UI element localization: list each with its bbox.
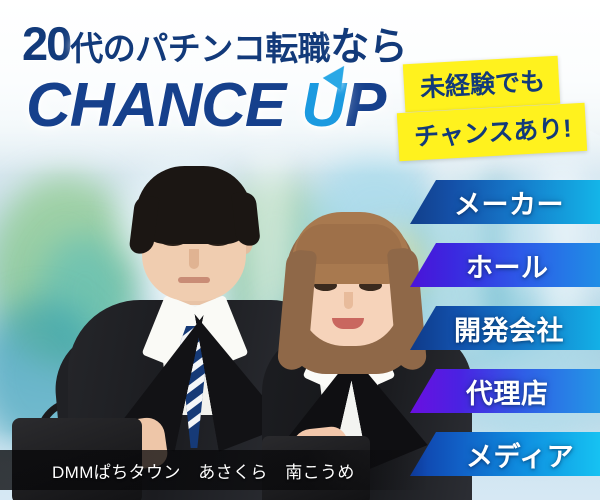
logo-p-letter: P [345,71,385,140]
category-button-agency[interactable]: 代理店 [410,369,600,413]
caption-text: DMMぱちタウン あさくら 南こうめ [52,458,355,483]
headline: 20代のパチンコ転職なら [22,16,407,72]
category-button-hall[interactable]: ホール [410,243,600,287]
category-label: 開発会社 [454,309,564,348]
chance-up-logo: CHANCEUP [26,70,385,141]
category-label: メディア [466,435,574,474]
category-button-developer[interactable]: 開発会社 [410,306,600,350]
category-button-media[interactable]: メディア [410,432,600,476]
badge-no-experience: 未経験でも [403,56,560,113]
chance-up-banner: 20代のパチンコ転職なら CHANCEUP 未経験でも チャンスあり! メーカー… [0,0,600,500]
category-label: ホール [466,246,549,285]
caption-band: DMMぱちタウン あさくら 南こうめ [0,450,428,490]
logo-chance-text: CHANCE [26,71,285,140]
nose [189,249,199,269]
category-button-maker[interactable]: メーカー [410,180,600,224]
category-label: メーカー [454,183,564,222]
nose [344,292,353,309]
headline-suffix: なら [330,26,407,69]
headline-middle: 代のパチンコ転職 [70,30,330,67]
mouth [178,277,210,283]
category-label: 代理店 [466,372,549,411]
headline-number: 20 [22,17,70,70]
